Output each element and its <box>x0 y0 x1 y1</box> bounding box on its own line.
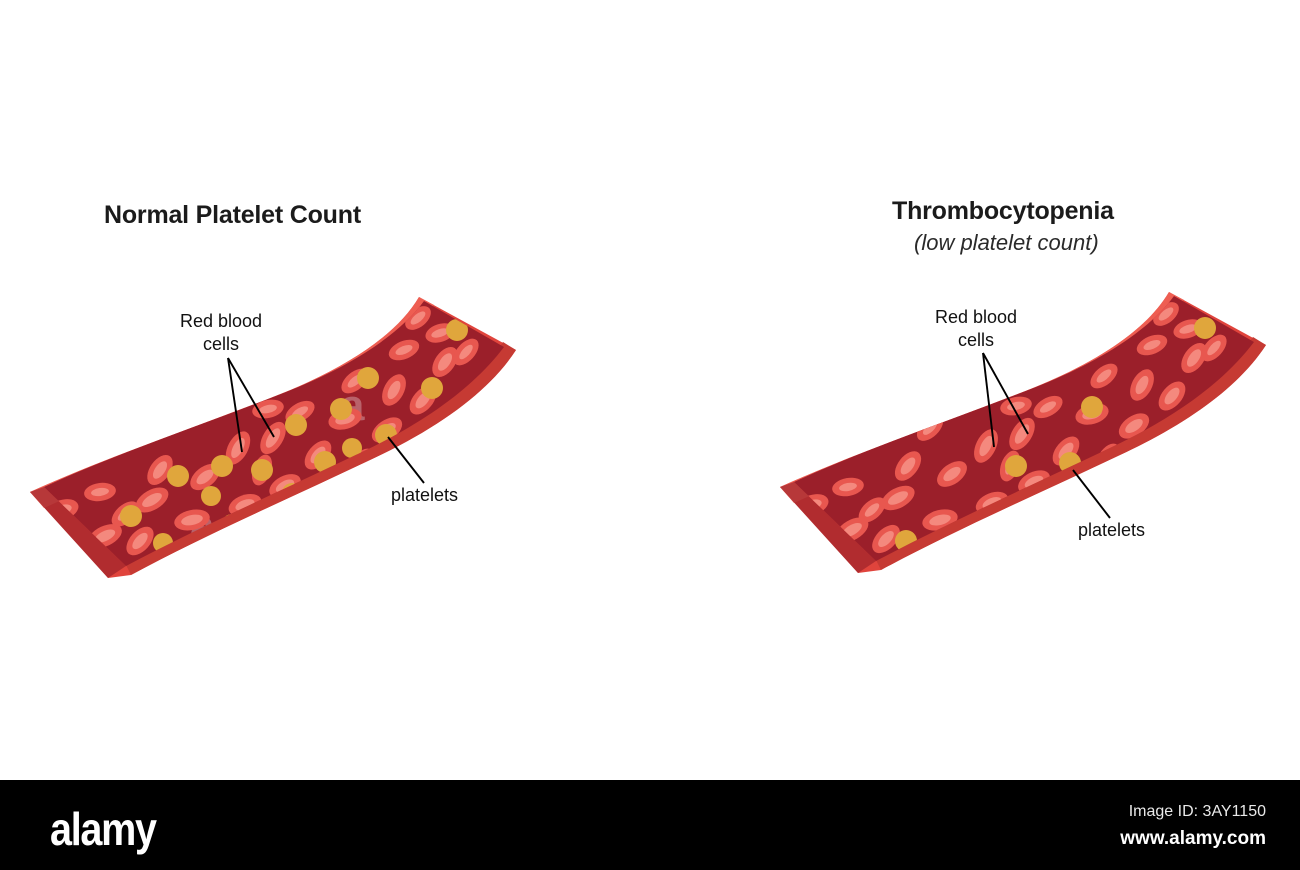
vessel-thrombocytopenia <box>780 292 1266 573</box>
panel-subtitle-thrombocytopenia: (low platelet count) <box>914 230 1099 256</box>
vessel-normal <box>30 297 516 578</box>
label-platelets-thrombocytopenia: platelets <box>1078 519 1145 542</box>
alamy-logo: alamy <box>50 802 156 856</box>
label-rbc-line2: cells <box>935 329 1017 352</box>
label-rbc-line1: Red blood <box>935 307 1017 327</box>
blood-vessel-artwork: a <box>0 0 1300 790</box>
label-rbc-line1: Red blood <box>180 311 262 331</box>
label-platelets-normal: platelets <box>391 484 458 507</box>
leader-line-platelets-right <box>1073 470 1110 518</box>
label-red-blood-cells-thrombocytopenia: Red blood cells <box>935 306 1017 351</box>
label-rbc-line2: cells <box>180 333 262 356</box>
illustration-page: a <box>0 0 1300 870</box>
label-red-blood-cells-normal: Red blood cells <box>180 310 262 355</box>
image-id-text: Image ID: 3AY1150 <box>1129 803 1266 821</box>
alamy-footer-bar <box>0 780 1300 870</box>
alamy-url-text: www.alamy.com <box>1120 828 1266 850</box>
panel-title-normal: Normal Platelet Count <box>104 201 361 230</box>
leader-line-platelets-left <box>388 437 424 483</box>
panel-title-thrombocytopenia: Thrombocytopenia <box>892 197 1114 226</box>
red-blood-cells-left <box>43 301 484 572</box>
